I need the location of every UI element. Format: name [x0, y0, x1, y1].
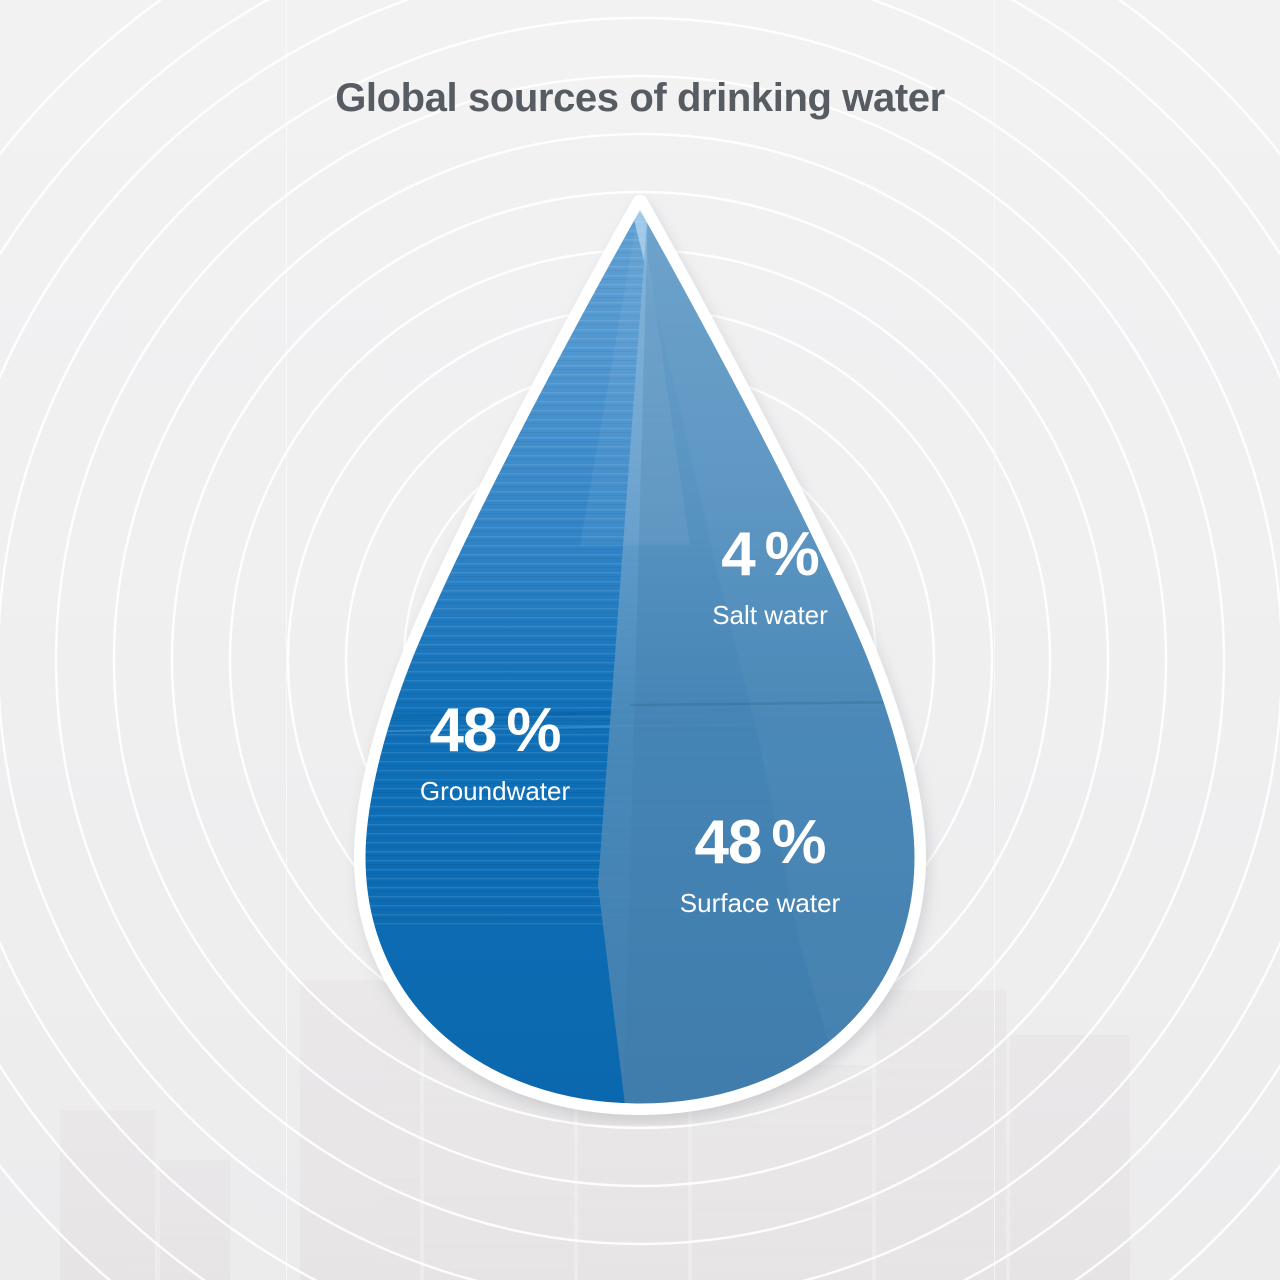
- percent-symbol: %: [506, 696, 560, 765]
- slice-surface-water-shade: [622, 207, 950, 1125]
- infographic-canvas: Global sources of drinking water: [0, 0, 1280, 1280]
- percent-symbol: %: [771, 808, 825, 877]
- water-droplet-chart: [330, 185, 950, 1125]
- stat-groundwater-value: 48%: [365, 700, 625, 762]
- stat-surface-water-label: Surface water: [630, 890, 890, 916]
- page-title: Global sources of drinking water: [0, 76, 1280, 121]
- stat-salt-water[interactable]: 4% Salt water: [640, 524, 900, 628]
- percent-symbol: %: [765, 520, 819, 589]
- stat-salt-water-value: 4%: [640, 524, 900, 586]
- stat-groundwater-label: Groundwater: [365, 778, 625, 804]
- stat-groundwater[interactable]: 48% Groundwater: [365, 700, 625, 804]
- stat-surface-water[interactable]: 48% Surface water: [630, 812, 890, 916]
- stat-salt-water-label: Salt water: [640, 602, 900, 628]
- stat-surface-water-value: 48%: [630, 812, 890, 874]
